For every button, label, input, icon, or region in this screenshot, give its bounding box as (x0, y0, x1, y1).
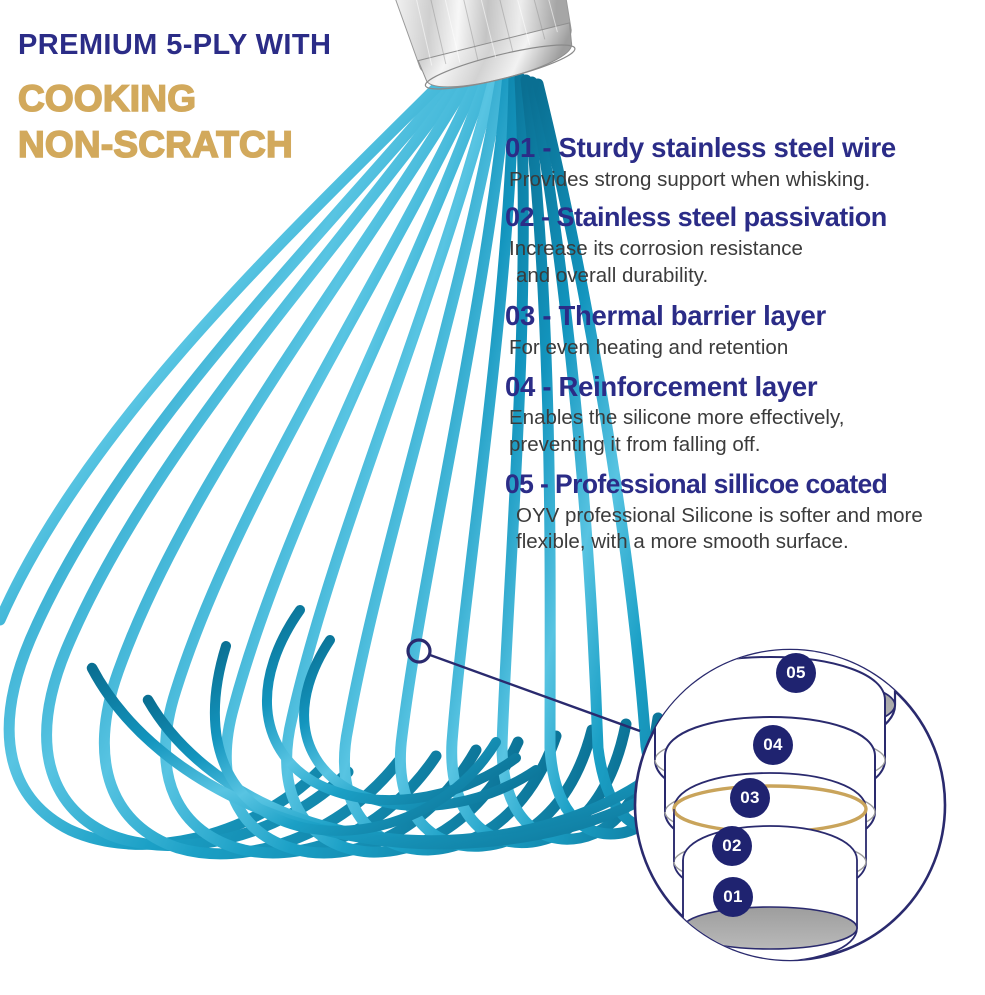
feature-03-title: 03 - Thermal barrier layer (505, 299, 983, 333)
layer-badge-05: 05 (776, 653, 816, 693)
feature-item-03: 03 - Thermal barrier layer For even heat… (505, 299, 983, 361)
layer-badge-01: 01 (713, 877, 753, 917)
feature-list: 01 - Sturdy stainless steel wire Provide… (505, 131, 983, 558)
layer-badge-02: 02 (712, 826, 752, 866)
headline-non-scratch: NON-SCRATCH (18, 122, 488, 167)
product-infographic: PREMIUM 5-PLY WITH COOKING NON-SCRATCH 0… (0, 0, 985, 995)
feature-05-title: 05 - Professional sillicoe coated (505, 468, 983, 500)
feature-04-desc-line-1: Enables the silicone more effectively, (509, 405, 983, 432)
headline-premium-line: PREMIUM 5-PLY WITH (18, 30, 488, 60)
layer-badge-04: 04 (753, 725, 793, 765)
feature-item-05: 05 - Professional sillicoe coated OYV pr… (505, 468, 983, 556)
layer-badge-03: 03 (730, 778, 770, 818)
feature-item-04: 04 - Reinforcement layer Enables the sil… (505, 370, 983, 459)
feature-01-desc-line-1: Provides strong support when whisking. (509, 167, 983, 194)
magnifier-callout: 05 04 03 02 01 (560, 615, 980, 995)
feature-02-desc-line-2: and overall durability. (509, 263, 983, 290)
feature-03-description: For even heating and retention (509, 335, 983, 362)
callout-marker-circle (408, 640, 430, 662)
feature-05-description: OYV professional Silicone is softer and … (509, 503, 983, 556)
feature-02-description: Increase its corrosion resistance and ov… (509, 236, 983, 289)
feature-05-desc-line-2: flexible, with a more smooth surface. (509, 529, 983, 556)
feature-01-title: 01 - Sturdy stainless steel wire (505, 131, 983, 165)
feature-01-description: Provides strong support when whisking. (509, 167, 983, 194)
feature-04-description: Enables the silicone more effectively, p… (509, 405, 983, 458)
headline-gold-block: COOKING NON-SCRATCH (18, 76, 488, 166)
headline-block: PREMIUM 5-PLY WITH COOKING NON-SCRATCH (18, 30, 488, 167)
feature-item-01: 01 - Sturdy stainless steel wire Provide… (505, 131, 983, 193)
feature-04-title: 04 - Reinforcement layer (505, 370, 983, 404)
feature-02-desc-line-1: Increase its corrosion resistance (509, 236, 983, 263)
feature-04-desc-line-2: preventing it from falling off. (509, 432, 983, 459)
feature-02-title: 02 - Stainless steel passivation (505, 201, 983, 234)
headline-cooking: COOKING (18, 76, 488, 121)
feature-05-desc-line-1: OYV professional Silicone is softer and … (509, 503, 983, 530)
feature-03-desc-line-1: For even heating and retention (509, 335, 983, 362)
feature-item-02: 02 - Stainless steel passivation Increas… (505, 201, 983, 289)
